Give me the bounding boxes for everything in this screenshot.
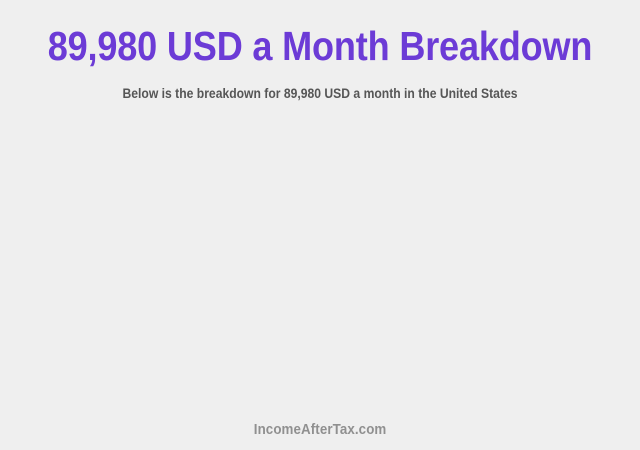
page-root: 89,980 USD a Month Breakdown Below is th… xyxy=(0,0,640,450)
footer-brand-label: IncomeAfterTax.com xyxy=(254,422,387,439)
page-title: 89,980 USD a Month Breakdown xyxy=(38,23,601,69)
breakdown-content-area xyxy=(0,112,640,410)
page-footer: IncomeAfterTax.com xyxy=(0,421,640,439)
page-subtitle: Below is the breakdown for 89,980 USD a … xyxy=(32,86,608,102)
